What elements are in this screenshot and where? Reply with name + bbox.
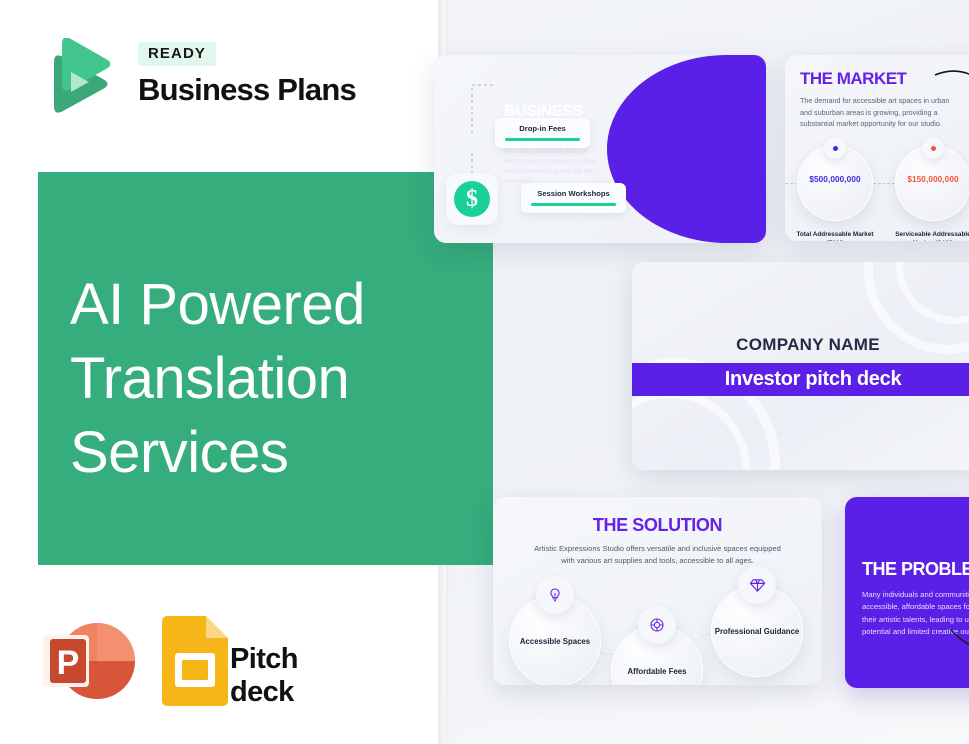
svg-text:P: P: [57, 644, 80, 682]
market-title: THE MARKET: [800, 69, 906, 89]
diamond-icon: [749, 577, 766, 594]
lightbulb-icon: [547, 587, 563, 603]
lifebuoy-icon: [649, 617, 665, 633]
play-triangle-logo-icon: [38, 38, 110, 116]
solution-node[interactable]: Accessible Spaces: [509, 595, 601, 685]
brand-text-block: READY Business Plans: [138, 42, 356, 108]
slide-the-market[interactable]: THE MARKET The demand for accessible art…: [785, 55, 969, 241]
dollar-sign-icon: $: [454, 181, 490, 217]
solution-icon-holder: [536, 576, 574, 614]
brand-logo[interactable]: READY Business Plans: [38, 36, 368, 122]
market-metric-caption: Total Addressable Market (TAM): [790, 230, 880, 241]
company-subtitle: Investor pitch deck: [725, 368, 902, 391]
problem-title: THE PROBLEM: [862, 559, 969, 580]
market-metric-value: $150,000,000: [895, 175, 969, 184]
market-metric-circle[interactable]: $500,000,000: [797, 145, 873, 221]
ready-badge: READY: [138, 42, 216, 66]
solution-node-label: Accessible Spaces: [520, 636, 590, 647]
solution-node-label: Affordable Fees: [628, 666, 687, 677]
business-model-dollar-badge: $: [446, 173, 498, 225]
brand-name: Business Plans: [138, 72, 356, 108]
curved-arrow-icon: [933, 65, 969, 113]
market-metric-value: $500,000,000: [797, 175, 873, 184]
swoosh-decoration-icon: [949, 626, 969, 660]
solution-node[interactable]: Professional Guidance: [711, 585, 803, 677]
underline-bar: [505, 138, 580, 141]
solution-icon-holder: [738, 566, 776, 604]
solution-node[interactable]: Affordable Fees: [611, 625, 703, 685]
market-metric-circle[interactable]: $150,000,000: [895, 145, 969, 221]
underline-bar: [531, 203, 616, 206]
solution-title: THE SOLUTION: [493, 515, 822, 536]
google-slides-icon[interactable]: [158, 615, 232, 707]
formats-label: Pitch deck: [230, 643, 298, 709]
powerpoint-icon[interactable]: P: [40, 615, 140, 707]
slide-the-problem[interactable]: THE PROBLEM Many individuals and communi…: [845, 497, 969, 688]
solution-description: Artistic Expressions Studio offers versa…: [533, 543, 783, 567]
market-metric-dot-holder: [824, 137, 846, 159]
business-model-description: Revenue generation through diverse strea…: [504, 147, 602, 187]
market-metric-dot-holder: [922, 137, 944, 159]
market-metric-caption: Serviceable Addressable Market (SAM): [888, 230, 969, 241]
company-subtitle-band: Investor pitch deck: [632, 363, 969, 396]
slide-the-solution[interactable]: THE SOLUTION Artistic Expressions Studio…: [493, 497, 822, 685]
business-model-item[interactable]: Session Workshops: [521, 183, 626, 213]
company-name: COMPANY NAME: [632, 335, 969, 355]
market-dot-icon: [833, 146, 838, 151]
business-model-item-label: Session Workshops: [531, 189, 616, 198]
slide-business-model[interactable]: BUSINESS MODEL Revenue generation throug…: [434, 55, 766, 243]
market-dash-mid: [873, 183, 895, 184]
business-model-item[interactable]: Drop-in Fees: [495, 118, 590, 148]
page-title: AI Powered Translation Services: [70, 268, 470, 490]
slide-company-name[interactable]: COMPANY NAME Investor pitch deck: [632, 262, 969, 470]
solution-node-label: Professional Guidance: [715, 626, 800, 637]
market-dot-icon: [931, 146, 936, 151]
solution-icon-holder: [638, 606, 676, 644]
business-model-item-label: Drop-in Fees: [505, 124, 580, 133]
